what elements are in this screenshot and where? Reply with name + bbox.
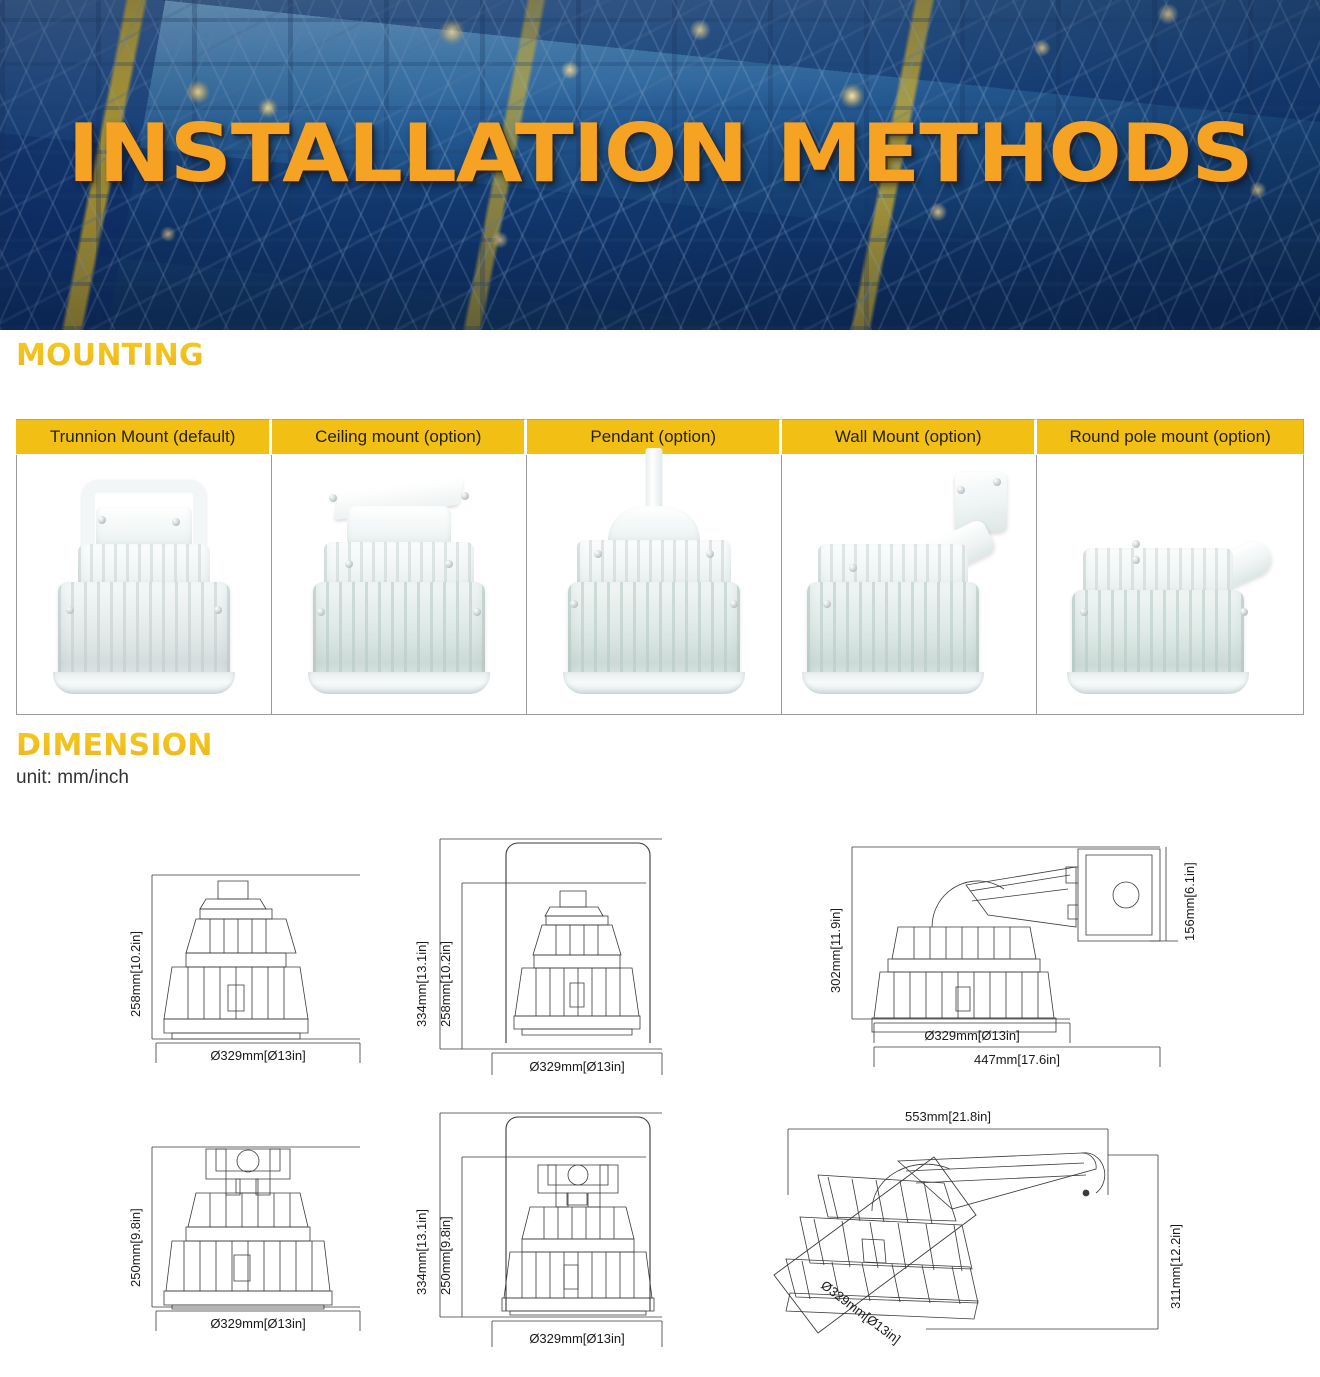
dim-label-width: Ø329mm[Ø13in] xyxy=(210,1048,305,1063)
drawing-round-pole-angled-view: 553mm[21.8in] 311mm[12.2in] Ø329mm[Ø13in… xyxy=(766,1097,1196,1377)
mounting-section: MOUNTING Trunnion Mount (default) Ceilin… xyxy=(16,338,1304,715)
dim-label-height: 302mm[11.9in] xyxy=(828,908,843,993)
trunnion-mount-lamp xyxy=(44,470,244,700)
mount-header-wall: Wall Mount (option) xyxy=(782,419,1037,455)
dim-label-diameter: Ø329mm[Ø13in] xyxy=(924,1028,1019,1043)
mount-cell-trunnion xyxy=(16,455,272,715)
dim-label-width: Ø329mm[Ø13in] xyxy=(529,1059,624,1074)
drawing-ceiling-front-view: 250mm[9.8in] Ø329mm[Ø13in] xyxy=(110,1135,380,1335)
mount-cell-ceiling xyxy=(272,455,527,715)
mount-cell-wall xyxy=(782,455,1037,715)
hero-banner: INSTALLATION METHODS xyxy=(0,0,1320,330)
dim-label-overall-height: 334mm[13.1in] xyxy=(414,941,429,1027)
dim-label-overall-width: 447mm[17.6in] xyxy=(974,1052,1060,1067)
dim-label-body-height: 250mm[9.8in] xyxy=(438,1216,453,1295)
drawing-wall-mount-side-view: 302mm[11.9in] 156mm[6.1in] Ø329mm[Ø13in]… xyxy=(820,831,1220,1081)
dim-label-height: 250mm[9.8in] xyxy=(128,1208,143,1287)
dim-label-overall-height: 334mm[13.1in] xyxy=(414,1209,429,1295)
dimension-drawings-grid: 258mm[10.2in] Ø329mm[Ø13in] xyxy=(16,797,1304,1357)
mount-header-roundpole: Round pole mount (option) xyxy=(1037,419,1304,455)
dimension-section: DIMENSION unit: mm/inch xyxy=(16,728,1304,1357)
mount-cell-pendant xyxy=(527,455,782,715)
dim-label-bracket-height: 156mm[6.1in] xyxy=(1182,862,1197,941)
dim-label-height: 258mm[10.2in] xyxy=(128,931,143,1017)
dim-label-diameter: Ø329mm[Ø13in] xyxy=(818,1277,903,1346)
dim-label-height: 311mm[12.2in] xyxy=(1168,1224,1183,1309)
ceiling-mount-lamp xyxy=(299,470,499,700)
pendant-mount-lamp xyxy=(554,470,754,700)
dim-label-body-height: 258mm[10.2in] xyxy=(438,941,453,1027)
dim-label-overall-length: 553mm[21.8in] xyxy=(905,1109,991,1124)
mounting-table: Trunnion Mount (default) Ceiling mount (… xyxy=(16,419,1304,715)
dim-label-width: Ø329mm[Ø13in] xyxy=(210,1316,305,1331)
page-title: INSTALLATION METHODS xyxy=(0,112,1320,196)
mount-header-trunnion: Trunnion Mount (default) xyxy=(16,419,272,455)
mount-header-ceiling: Ceiling mount (option) xyxy=(272,419,527,455)
dimension-unit-label: unit: mm/inch xyxy=(16,767,1304,789)
wall-mount-lamp xyxy=(809,470,1009,700)
mount-cell-roundpole xyxy=(1037,455,1304,715)
drawing-trunnion-front-view: 258mm[10.2in] Ø329mm[Ø13in] xyxy=(110,867,380,1067)
mounting-table-image-row xyxy=(16,455,1304,715)
dim-label-width: Ø329mm[Ø13in] xyxy=(529,1331,624,1346)
dimension-heading: DIMENSION xyxy=(16,728,1304,763)
mounting-heading: MOUNTING xyxy=(16,338,1304,373)
round-pole-mount-lamp xyxy=(1070,470,1270,700)
drawing-trunnion-bracket-view: 334mm[13.1in] 258mm[10.2in] Ø329mm[Ø13in… xyxy=(400,831,690,1081)
